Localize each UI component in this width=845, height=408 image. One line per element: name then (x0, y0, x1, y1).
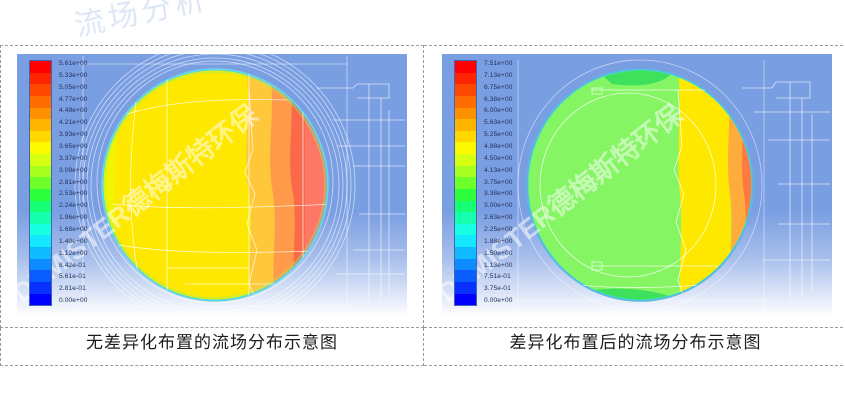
colorbar-tick: 3.65e+00 (59, 144, 88, 151)
colorbar-swatches-left (29, 60, 52, 306)
colorbar-tick: 1.50e+00 (484, 251, 513, 258)
colorbar-tick: 5.63e+00 (484, 120, 513, 127)
colorbar-tick: 4.77e+00 (59, 97, 88, 104)
colorbar-tick: 7.51e-01 (484, 274, 513, 281)
colorbar-tick: 2.81e+00 (59, 180, 88, 187)
figure-row: 5.61e+00 5.33e+00 5.05e+00 4.77e+00 4.49… (1, 46, 845, 328)
colorbar-tick: 0.00e+00 (484, 298, 513, 305)
colorbar-tick: 2.53e+00 (59, 191, 88, 198)
colorbar-tick: 0.00e+00 (59, 298, 88, 305)
colorbar-tick: 3.09e+00 (59, 168, 88, 175)
colorbar-tick: 5.25e+00 (484, 132, 513, 139)
colorbar-tick: 3.37e+00 (59, 156, 88, 163)
colorbar-tick: 3.75e-01 (484, 286, 513, 293)
colorbar-tick: 4.88e+00 (484, 144, 513, 151)
colorbar-tick: 4.13e+00 (484, 168, 513, 175)
colorbar-tick: 1.96e+00 (59, 215, 88, 222)
colorbar-tick: 5.61e+00 (59, 61, 88, 68)
colorbar-tick: 5.33e+00 (59, 73, 88, 80)
colorbar-tick: 1.12e+00 (59, 251, 88, 258)
colorbar-tick: 7.51e+00 (484, 61, 513, 68)
colorbar-tick: 5.05e+00 (59, 85, 88, 92)
colorbar-tick: 1.68e+00 (59, 227, 88, 234)
colorbar-tick: 3.00e+00 (484, 203, 513, 210)
colorbar-tick: 7.13e+00 (484, 73, 513, 80)
colorbar-tick: 1.40e+00 (59, 239, 88, 246)
colorbar-tick: 8.42e-01 (59, 263, 88, 270)
caption-cell-left: 无差异化布置的流场分布示意图 (1, 328, 424, 366)
cfd-plot-right: 7.51e+00 7.13e+00 6.75e+00 6.38e+00 6.00… (442, 54, 832, 316)
colorbar-tick: 6.38e+00 (484, 97, 513, 104)
colorbar-tick: 2.81e-01 (59, 286, 88, 293)
colorbar-labels-left: 5.61e+00 5.33e+00 5.05e+00 4.77e+00 4.49… (59, 60, 88, 306)
caption-cell-right: 差异化布置后的流场分布示意图 (424, 328, 845, 366)
colorbar-labels-right: 7.51e+00 7.13e+00 6.75e+00 6.38e+00 6.00… (484, 60, 513, 306)
colorbar-tick: 3.75e+00 (484, 180, 513, 187)
colorbar-tick: 3.93e+00 (59, 132, 88, 139)
caption-row: 无差异化布置的流场分布示意图 差异化布置后的流场分布示意图 (1, 328, 845, 366)
figure-caption-left: 无差异化布置的流场分布示意图 (86, 333, 338, 352)
colorbar-tick: 1.88e+00 (484, 239, 513, 246)
figure-caption-right: 差异化布置后的流场分布示意图 (510, 333, 762, 352)
colorbar-tick: 4.49e+00 (59, 108, 88, 115)
cfd-plot-left: 5.61e+00 5.33e+00 5.05e+00 4.77e+00 4.49… (17, 54, 407, 316)
colorbar-right: 7.51e+00 7.13e+00 6.75e+00 6.38e+00 6.00… (454, 60, 513, 306)
colorbar-tick: 2.63e+00 (484, 215, 513, 222)
colorbar-tick: 1.13e+00 (484, 263, 513, 270)
colorbar-tick: 4.21e+00 (59, 120, 88, 127)
figure-left: 5.61e+00 5.33e+00 5.05e+00 4.77e+00 4.49… (1, 46, 423, 327)
colorbar-tick: 4.50e+00 (484, 156, 513, 163)
colorbar-tick: 5.61e-01 (59, 274, 88, 281)
figure-right: 7.51e+00 7.13e+00 6.75e+00 6.38e+00 6.00… (424, 46, 845, 327)
colorbar-left: 5.61e+00 5.33e+00 5.05e+00 4.77e+00 4.49… (29, 60, 88, 306)
page-watermark: 流场分析 (70, 0, 333, 45)
figure-comparison-table: 5.61e+00 5.33e+00 5.05e+00 4.77e+00 4.49… (0, 45, 845, 366)
colorbar-tick: 6.75e+00 (484, 85, 513, 92)
colorbar-swatches-right (454, 60, 477, 306)
figure-cell-left: 5.61e+00 5.33e+00 5.05e+00 4.77e+00 4.49… (1, 46, 424, 328)
colorbar-tick: 2.24e+00 (59, 203, 88, 210)
colorbar-tick: 2.25e+00 (484, 227, 513, 234)
figure-cell-right: 7.51e+00 7.13e+00 6.75e+00 6.38e+00 6.00… (424, 46, 845, 328)
colorbar-tick: 6.00e+00 (484, 108, 513, 115)
colorbar-tick: 3.38e+00 (484, 191, 513, 198)
